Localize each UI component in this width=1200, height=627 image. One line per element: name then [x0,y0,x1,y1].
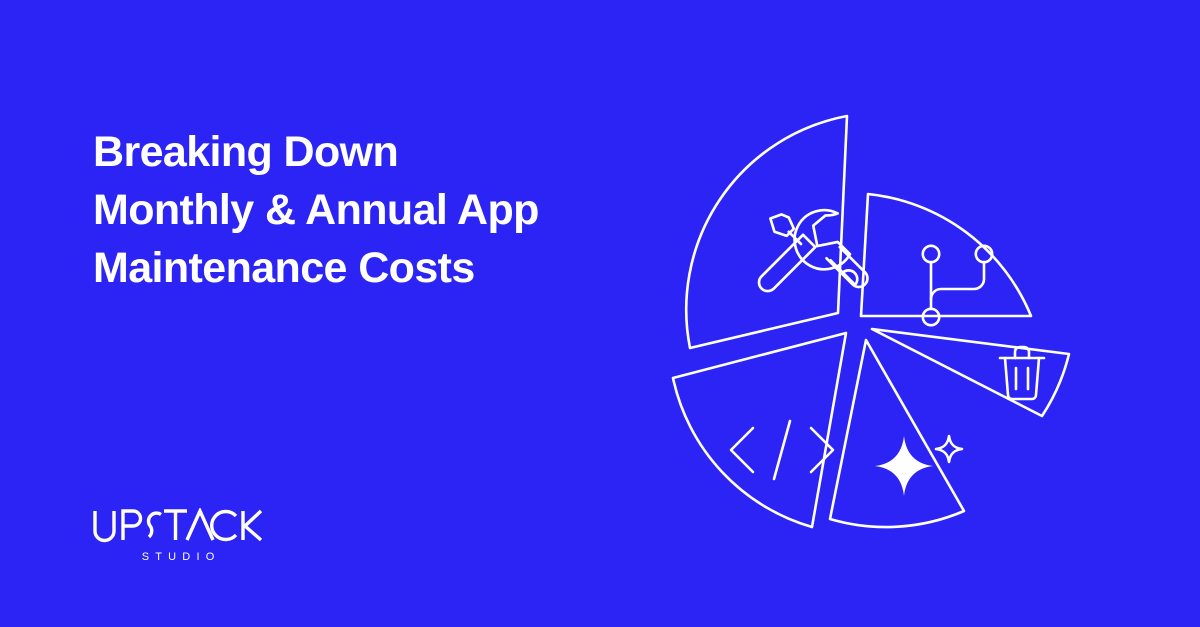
pie-slice-tools [686,116,867,348]
trash-icon [1000,347,1044,399]
tools-icon [759,210,867,291]
pie-slice-branch [861,194,1031,325]
code-icon [731,421,833,479]
pie-chart-illustration [650,118,1080,518]
title-line-1: Breaking Down [93,123,653,181]
logo-tagline: STUDIO [92,551,264,563]
promo-card: Breaking Down Monthly & Annual App Maint… [0,0,1200,627]
git-branch-icon [923,246,992,325]
brand-logo: STUDIO [92,508,322,563]
title-line-3: Maintenance Costs [93,239,653,297]
pie-slice-sparkle [830,340,964,527]
upstack-wordmark-icon [92,508,264,544]
title-line-2: Monthly & Annual App [93,181,653,239]
pie-slice-code [673,333,846,527]
page-title: Breaking Down Monthly & Annual App Maint… [93,123,653,297]
pie-chart-svg [650,118,1080,518]
